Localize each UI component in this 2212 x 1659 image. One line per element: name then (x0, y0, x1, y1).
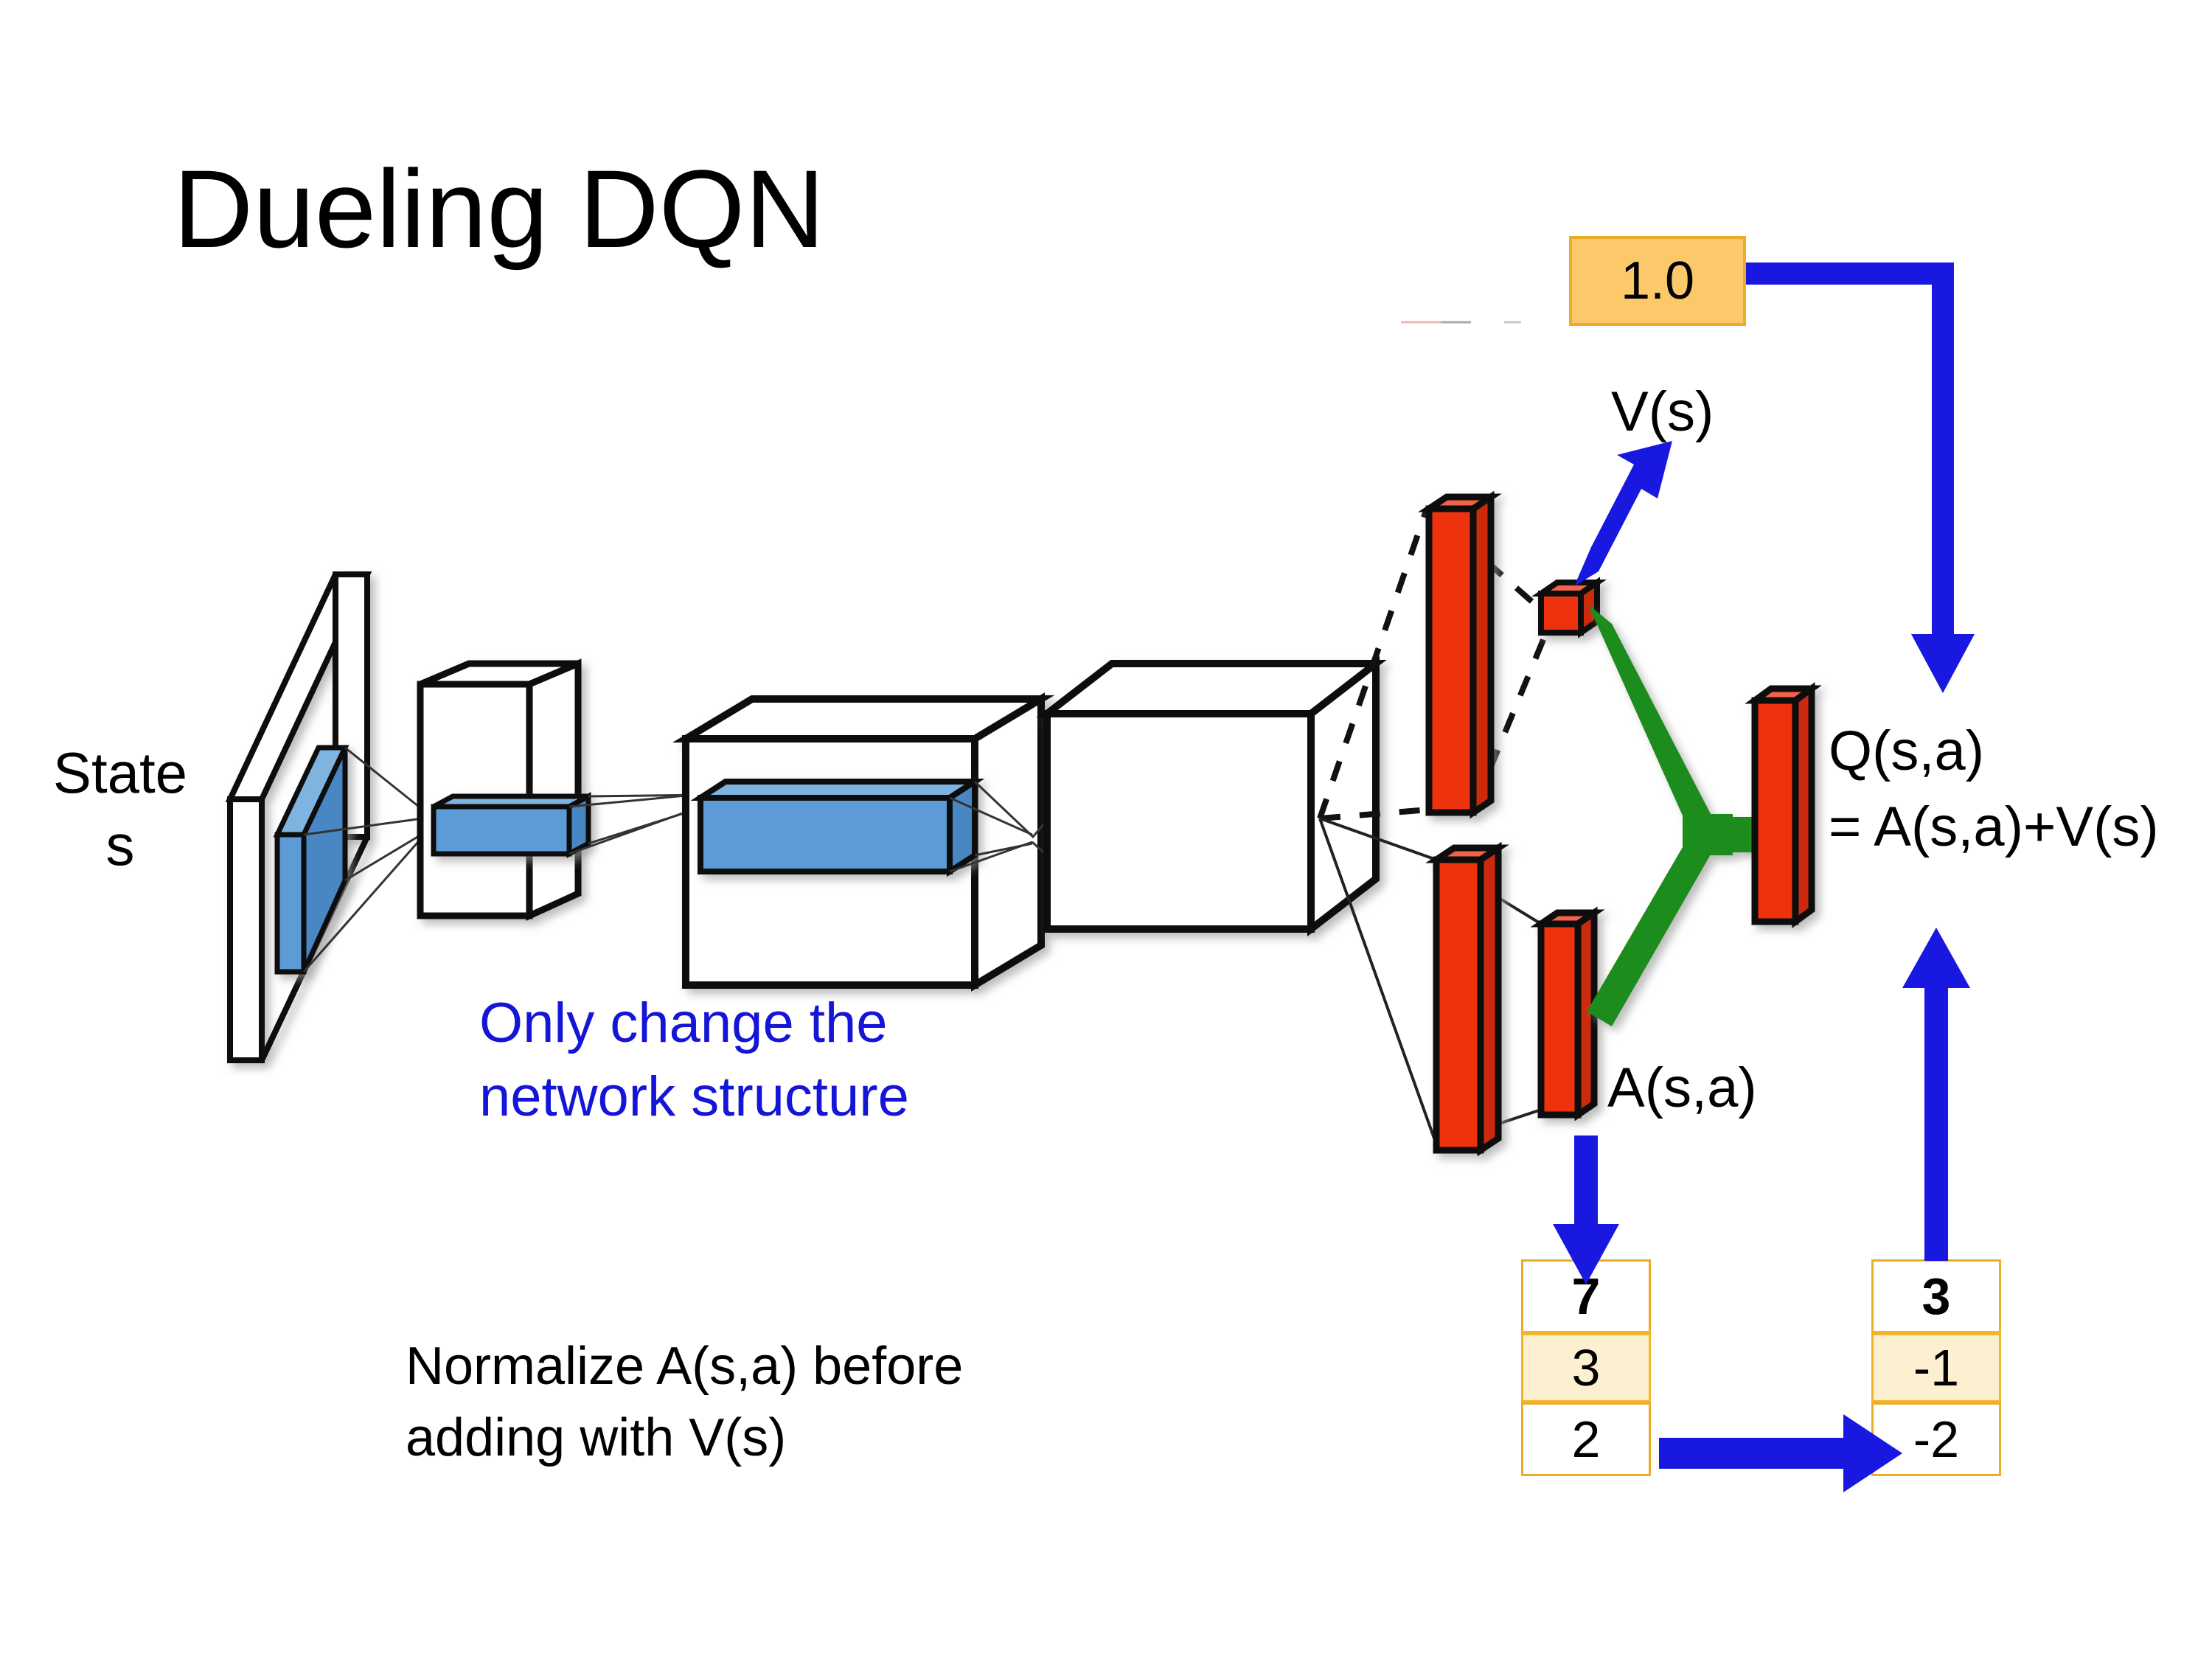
note-blue-line1: Only change the (479, 987, 909, 1060)
page-title: Dueling DQN (173, 151, 825, 268)
edge-conv2-to-conv3 (950, 782, 1050, 872)
conv-filter-2 (700, 782, 975, 872)
conv-block-3 (1047, 664, 1376, 929)
q-value-label: Q(s,a) = A(s,a)+V(s) (1829, 713, 2159, 866)
edge-conv1-to-conv2 (569, 774, 723, 854)
input-state-plane (230, 574, 367, 1060)
normalized-cell-2: -2 (1871, 1402, 2001, 1476)
q-value-label-line1: Q(s,a) (1829, 713, 2159, 789)
edge-state-to-conv1 (304, 748, 441, 972)
advantage-cell-2: 2 (1521, 1402, 1651, 1476)
conv-filter-1 (434, 796, 588, 854)
arrow-value-box-to-q (1746, 262, 1975, 693)
fc-bar-advantage-output (1541, 913, 1594, 1115)
green-combine-connector (1587, 605, 1792, 1026)
conv-block-2 (686, 699, 1041, 985)
normalized-advantage-column: 3 -1 -2 (1871, 1259, 2001, 1476)
slide-canvas: Dueling DQN State s Only change the netw… (0, 0, 2212, 1659)
arrow-v-scalar-to-value-box (1574, 441, 1672, 586)
advantage-cell-0: 7 (1521, 1259, 1651, 1333)
advantage-value-column: 7 3 2 (1521, 1259, 1651, 1476)
value-scalar-cube (1541, 582, 1597, 633)
note-black-line2: adding with V(s) (406, 1402, 963, 1474)
fc-bar-advantage-stream (1436, 848, 1498, 1150)
state-label-line2: s (21, 810, 220, 882)
fc-bar-q-output (1755, 689, 1812, 922)
conv-block-1 (420, 664, 578, 916)
note-only-change-network: Only change the network structure (479, 987, 909, 1135)
note-black-line1: Normalize A(s,a) before (406, 1331, 963, 1402)
edge-value-stream-dashed (1320, 509, 1546, 818)
arrow-normalized-to-q (1902, 928, 1970, 1261)
state-label: State s (21, 737, 220, 881)
note-blue-line2: network structure (479, 1060, 909, 1134)
fc-bar-value-stream (1429, 497, 1491, 813)
advantage-stream-label: A(s,a) (1607, 1056, 1757, 1120)
edge-advantage-stream-solid (1320, 818, 1541, 1144)
state-label-line1: State (21, 737, 220, 810)
value-function-box: 1.0 (1569, 236, 1746, 326)
normalized-cell-0: 3 (1871, 1259, 2001, 1333)
arrow-normalize (1659, 1414, 1902, 1492)
normalized-cell-1: -1 (1871, 1331, 2001, 1405)
input-receptive-field (277, 748, 345, 972)
q-value-label-line2: = A(s,a)+V(s) (1829, 789, 2159, 865)
value-stream-label: V(s) (1611, 380, 1714, 444)
note-normalize-advantage: Normalize A(s,a) before adding with V(s) (406, 1331, 963, 1474)
advantage-cell-1: 3 (1521, 1331, 1651, 1405)
